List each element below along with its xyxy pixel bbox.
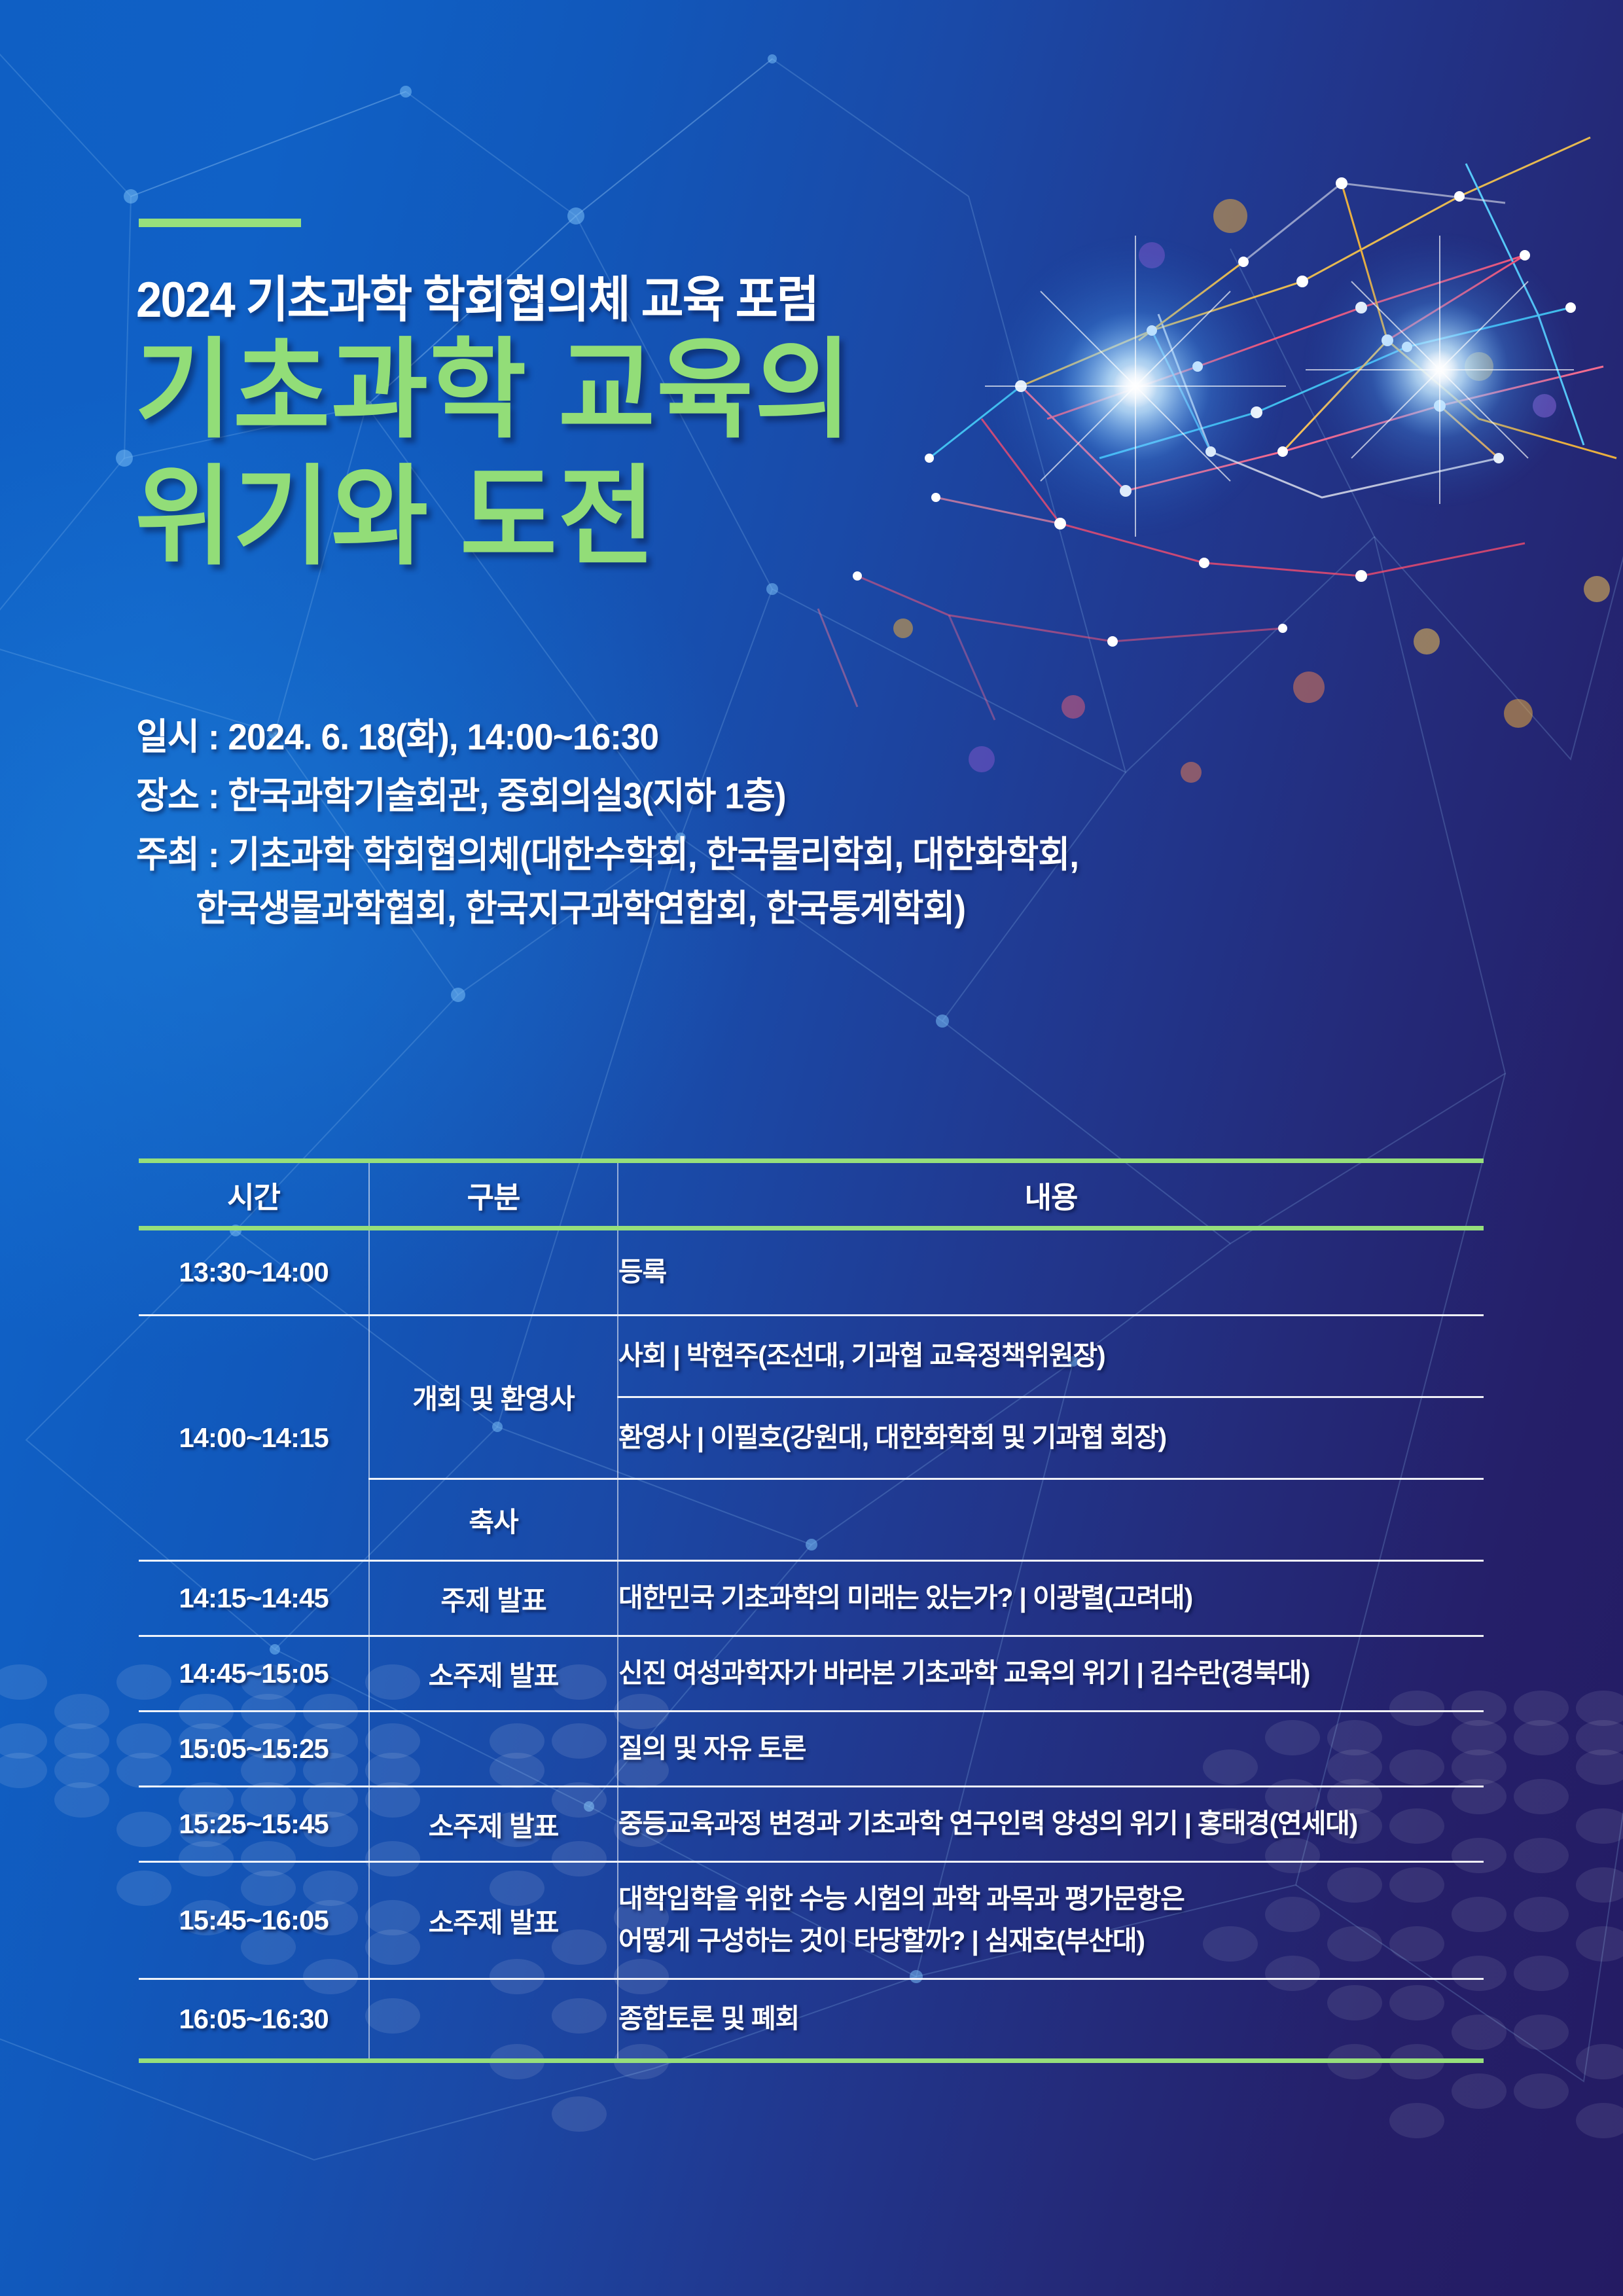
- row-kind: [369, 1979, 618, 2061]
- row-desc: 종합토론 및 폐회: [618, 1979, 1484, 2061]
- event-kicker: 2024 기초과학 학회협의체 교육 포럼: [136, 259, 818, 331]
- event-details: 일시 : 2024. 6. 18(화), 14:00~16:30 장소 : 한국…: [136, 719, 1079, 927]
- col-header-desc: 내용: [618, 1161, 1484, 1229]
- row-kind: 축사: [369, 1479, 618, 1561]
- row-time: 16:05~16:30: [139, 1979, 369, 2061]
- row-desc: 대학입학을 위한 수능 시험의 과학 과목과 평가문항은 어떻게 구성하는 것이…: [618, 1862, 1484, 1979]
- detail-date-label: 일시: [136, 716, 199, 757]
- row-desc: 신진 여성과학자가 바라본 기초과학 교육의 위기 | 김수란(경북대): [618, 1636, 1484, 1712]
- table-row: 14:15~14:45 주제 발표 대한민국 기초과학의 미래는 있는가? | …: [139, 1561, 1484, 1636]
- page-title: 기초과학 교육의 위기와 도전: [135, 327, 853, 581]
- row-time: 14:15~14:45: [139, 1561, 369, 1636]
- green-accent-bar: [139, 219, 301, 227]
- page-title-line2: 위기와 도전: [135, 457, 656, 578]
- poster-root: 2024 기초과학 학회협의체 교육 포럼 기초과학 교육의 위기와 도전 일시…: [0, 0, 1623, 2296]
- detail-place-label: 장소: [136, 775, 199, 816]
- row-time: 14:00~14:15: [139, 1316, 369, 1561]
- row-time: 15:45~16:05: [139, 1862, 369, 1979]
- schedule-table: 시간 구분 내용 13:30~14:00 등록 14:00~14:15 개회 및…: [139, 1158, 1484, 2063]
- page-title-line1: 기초과학 교육의: [135, 330, 853, 451]
- detail-host-value-line1: 기초과학 학회협의체(대한수학회, 한국물리학회, 대한화학회,: [228, 834, 1079, 875]
- detail-host-label: 주최: [136, 834, 199, 875]
- schedule-header-row: 시간 구분 내용: [139, 1161, 1484, 1229]
- row-desc: 사회 | 박현주(조선대, 기과협 교육정책위원장): [618, 1316, 1484, 1397]
- row-kind: 소주제 발표: [369, 1787, 618, 1862]
- detail-sep-1: :: [199, 716, 228, 757]
- row-desc-line2: 어떻게 구성하는 것이 타당할까? | 심재호(부산대): [618, 1920, 1484, 1962]
- detail-date-row: 일시 : 2024. 6. 18(화), 14:00~16:30: [136, 719, 1079, 755]
- row-time: 15:25~15:45: [139, 1787, 369, 1862]
- row-desc: [618, 1479, 1484, 1561]
- table-row: 15:25~15:45 소주제 발표 중등교육과정 변경과 기초과학 연구인력 …: [139, 1787, 1484, 1862]
- detail-date-value: 2024. 6. 18(화), 14:00~16:30: [228, 716, 658, 757]
- table-row: 15:05~15:25 질의 및 자유 토론: [139, 1712, 1484, 1787]
- row-kind: 주제 발표: [369, 1561, 618, 1636]
- row-desc: 대한민국 기초과학의 미래는 있는가? | 이광렬(고려대): [618, 1561, 1484, 1636]
- table-row: 15:45~16:05 소주제 발표 대학입학을 위한 수능 시험의 과학 과목…: [139, 1862, 1484, 1979]
- col-header-kind: 구분: [369, 1161, 618, 1229]
- detail-sep-3: :: [199, 834, 228, 875]
- table-row: 14:00~14:15 개회 및 환영사 사회 | 박현주(조선대, 기과협 교…: [139, 1316, 1484, 1397]
- row-time: 15:05~15:25: [139, 1712, 369, 1787]
- row-time: 14:45~15:05: [139, 1636, 369, 1712]
- detail-place-row: 장소 : 한국과학기술회관, 중회의실3(지하 1층): [136, 778, 1079, 814]
- row-time: 13:30~14:00: [139, 1229, 369, 1316]
- row-desc: 질의 및 자유 토론: [618, 1712, 1484, 1787]
- table-row: 13:30~14:00 등록: [139, 1229, 1484, 1316]
- detail-sep-2: :: [199, 775, 228, 816]
- table-row: 14:45~15:05 소주제 발표 신진 여성과학자가 바라본 기초과학 교육…: [139, 1636, 1484, 1712]
- detail-place-value: 한국과학기술회관, 중회의실3(지하 1층): [228, 775, 785, 816]
- row-kind: 소주제 발표: [369, 1636, 618, 1712]
- row-kind: 소주제 발표: [369, 1862, 618, 1979]
- row-desc: 등록: [618, 1229, 1484, 1316]
- table-row: 16:05~16:30 종합토론 및 폐회: [139, 1979, 1484, 2061]
- row-kind: 개회 및 환영사: [369, 1316, 618, 1479]
- col-header-time: 시간: [139, 1161, 369, 1229]
- row-desc: 환영사 | 이필호(강원대, 대한화학회 및 기과협 회장): [618, 1397, 1484, 1479]
- row-kind: [369, 1229, 618, 1316]
- row-kind: [369, 1712, 618, 1787]
- detail-host-value-line2: 한국생물과학협회, 한국지구과학연합회, 한국통계학회): [136, 890, 1079, 927]
- row-desc-line1: 대학입학을 위한 수능 시험의 과학 과목과 평가문항은: [618, 1878, 1484, 1920]
- row-desc: 중등교육과정 변경과 기초과학 연구인력 양성의 위기 | 홍태경(연세대): [618, 1787, 1484, 1862]
- detail-host-row: 주최 : 기초과학 학회협의체(대한수학회, 한국물리학회, 대한화학회,한국생…: [136, 836, 1079, 927]
